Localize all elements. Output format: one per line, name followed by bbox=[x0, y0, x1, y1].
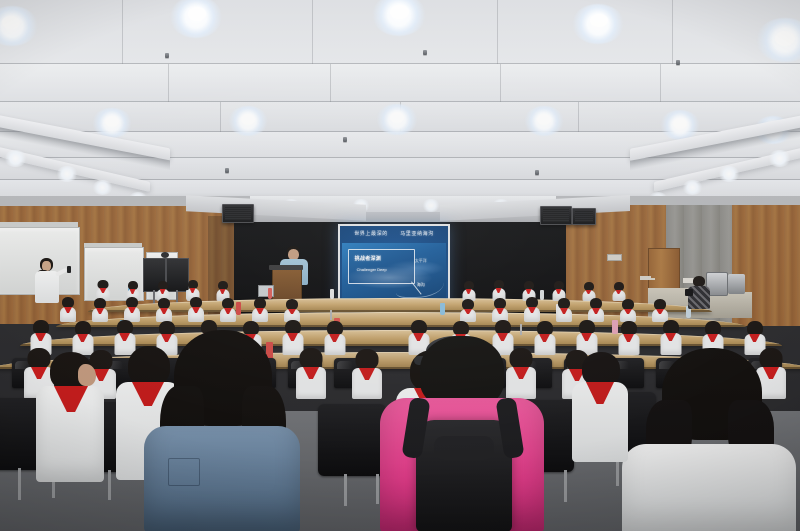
camera-on-stand bbox=[161, 252, 169, 258]
foreground-adult-pink bbox=[376, 336, 548, 531]
ceiling-loudspeaker bbox=[572, 208, 596, 225]
foreground-student bbox=[572, 352, 630, 462]
wall-sign bbox=[607, 254, 622, 261]
standing-teacher bbox=[34, 258, 60, 318]
slide-callout-heading: 挑战者深渊 bbox=[355, 256, 382, 262]
foreground-adult-denim bbox=[142, 330, 302, 531]
podium-top bbox=[269, 265, 303, 270]
slide-title: 世界上最深的 马里亚纳海沟 bbox=[344, 230, 443, 237]
slide-label-small: 太平洋 bbox=[415, 258, 427, 263]
camera bbox=[685, 289, 693, 296]
photographer bbox=[688, 276, 710, 310]
smartphone bbox=[67, 266, 71, 273]
lecture-hall-photo: 世界上最深的 马里亚纳海沟 挑战者深渊 Challenger Deep 海沟 太… bbox=[0, 0, 800, 531]
foreground-student bbox=[34, 352, 106, 482]
foreground-adult-white bbox=[618, 348, 798, 531]
ceiling-loudspeaker bbox=[540, 206, 572, 225]
ceiling-loudspeaker bbox=[222, 204, 254, 223]
slide-callout-subtitle: Challenger Deep bbox=[357, 267, 387, 272]
